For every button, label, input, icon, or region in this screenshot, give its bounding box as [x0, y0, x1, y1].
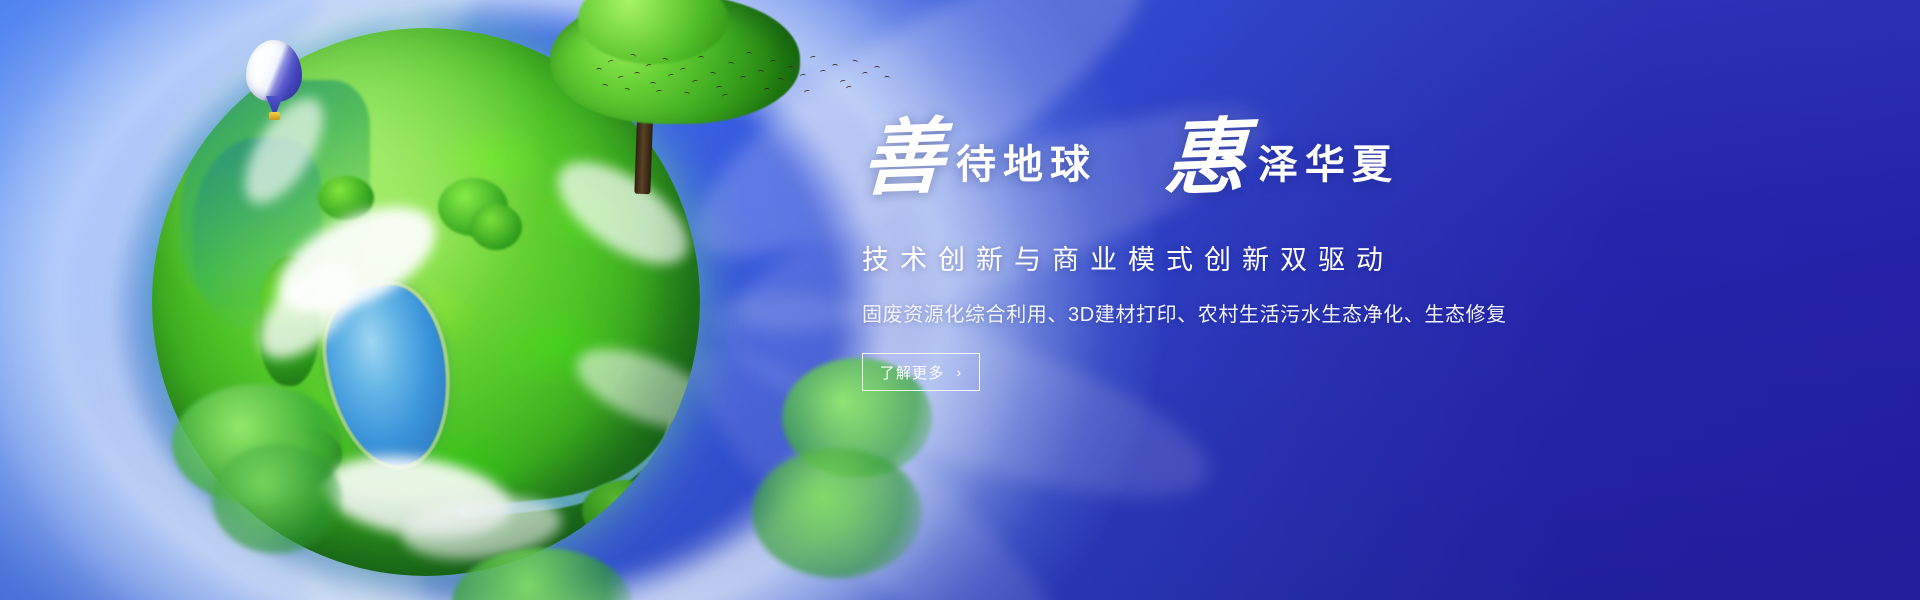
bird-icon: [820, 70, 826, 74]
headline-segment-two: 惠泽华夏: [1164, 118, 1399, 200]
bird-icon: [746, 52, 752, 56]
bird-icon: [778, 78, 784, 83]
hero-description: 固废资源化综合利用、3D建材打印、农村生活污水生态净化、生态修复: [862, 298, 1842, 327]
bird-icon: [680, 68, 687, 73]
bird-icon: [684, 92, 691, 97]
bird-icon: [716, 86, 722, 90]
bird-icon: [710, 71, 717, 76]
bird-icon: [840, 79, 847, 84]
bird-icon: [634, 72, 640, 76]
bird-icon: [602, 83, 609, 88]
headline-segment-one: 善待地球: [862, 118, 1097, 200]
bird-icon: [722, 93, 729, 99]
hero-subtitle: 技术创新与商业模式创新双驱动: [862, 238, 1842, 277]
bird-icon: [692, 80, 699, 85]
horizon-tree-bottom: [452, 548, 712, 600]
headline-text-daidiqiu: 待地球: [956, 145, 1097, 185]
bird-icon: [630, 53, 637, 59]
learn-more-button[interactable]: 了解更多 ›: [862, 353, 980, 391]
bird-icon: [788, 66, 794, 70]
headline-char-hui: 惠: [1162, 117, 1247, 202]
bird-icon: [862, 72, 868, 76]
bird-icon: [740, 76, 746, 81]
bird-icon: [846, 85, 853, 90]
bird-icon: [832, 64, 838, 68]
bird-icon: [874, 66, 880, 70]
horizon-tree-left: [172, 384, 362, 574]
learn-more-label: 了解更多: [880, 362, 945, 383]
bird-icon: [810, 55, 817, 60]
bird-icon: [770, 60, 776, 64]
bird-icon: [884, 76, 890, 80]
bird-icon: [617, 75, 624, 81]
bird-icon: [645, 63, 652, 69]
bird-icon: [800, 73, 807, 78]
bird-icon: [758, 70, 764, 74]
bird-icon: [852, 60, 859, 65]
bird-icon: [764, 88, 770, 92]
hero-content: 善待地球 惠泽华夏 技术创新与商业模式创新双驱动 固废资源化综合利用、3D建材打…: [862, 118, 1842, 448]
headline-char-shan: 善: [860, 117, 945, 202]
bird-flock-icon: [588, 46, 888, 106]
green-planet-illustration: [152, 28, 700, 576]
bird-icon: [608, 59, 615, 65]
hero-banner: 善待地球 惠泽华夏 技术创新与商业模式创新双驱动 固废资源化综合利用、3D建材打…: [0, 0, 1920, 600]
chevron-right-icon: ›: [956, 364, 962, 380]
bird-icon: [804, 89, 811, 94]
bird-icon: [728, 62, 734, 67]
bird-icon: [662, 57, 669, 62]
bird-icon: [650, 82, 656, 86]
headline-text-zehuaxia: 泽华夏: [1258, 145, 1399, 185]
bird-icon: [698, 56, 704, 60]
hot-air-balloon-icon: [246, 40, 306, 124]
bird-icon: [656, 89, 663, 94]
bird-icon: [668, 73, 675, 78]
bird-icon: [596, 68, 602, 72]
page-title: 善待地球 惠泽华夏: [862, 118, 1842, 214]
bird-icon: [624, 87, 631, 93]
